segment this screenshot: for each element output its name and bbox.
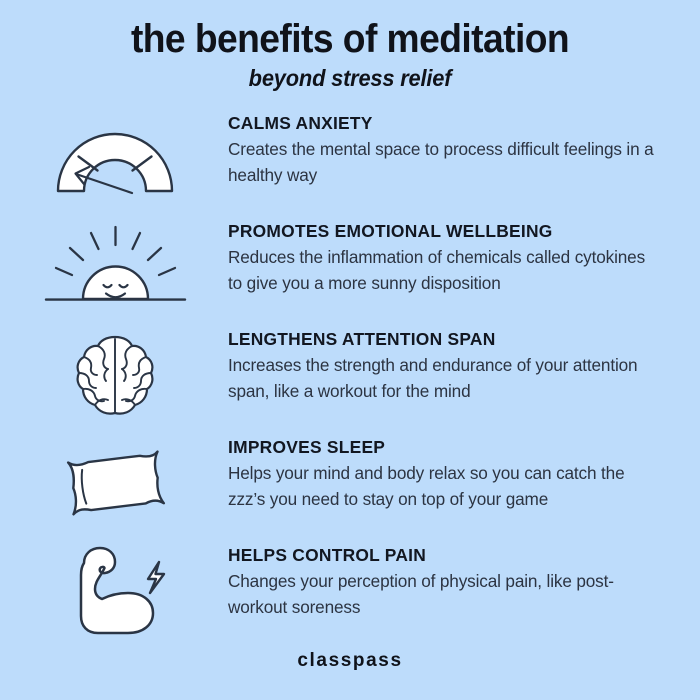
infographic-poster: the benefits of meditation beyond stress… — [0, 0, 700, 700]
benefits-list: CALMS ANXIETY Creates the mental space t… — [0, 105, 700, 645]
list-item: PROMOTES EMOTIONAL WELLBEING Reduces the… — [0, 213, 700, 321]
pillow-icon — [40, 429, 190, 537]
classpass-logo: classpass — [297, 650, 402, 671]
flexed-bicep-icon — [40, 537, 190, 645]
list-item: IMPROVES SLEEP Helps your mind and body … — [0, 429, 700, 537]
benefit-title: LENGTHENS ATTENTION SPAN — [228, 328, 678, 350]
benefit-title: CALMS ANXIETY — [228, 112, 678, 134]
rising-sun-face-icon — [40, 213, 190, 321]
gauge-icon — [40, 105, 190, 213]
benefit-description: Helps your mind and body relax so you ca… — [228, 461, 658, 512]
page-title: the benefits of meditation — [25, 16, 676, 62]
header: the benefits of meditation beyond stress… — [0, 16, 700, 92]
benefit-text: CALMS ANXIETY Creates the mental space t… — [228, 112, 678, 188]
benefit-text: IMPROVES SLEEP Helps your mind and body … — [228, 436, 678, 512]
footer: classpass — [0, 650, 700, 672]
benefit-description: Increases the strength and endurance of … — [228, 353, 658, 404]
list-item: LENGTHENS ATTENTION SPAN Increases the s… — [0, 321, 700, 429]
list-item: CALMS ANXIETY Creates the mental space t… — [0, 105, 700, 213]
benefit-text: HELPS CONTROL PAIN Changes your percepti… — [228, 544, 678, 620]
benefit-description: Reduces the inflammation of chemicals ca… — [228, 245, 658, 296]
benefit-title: IMPROVES SLEEP — [228, 436, 678, 458]
benefit-text: PROMOTES EMOTIONAL WELLBEING Reduces the… — [228, 220, 678, 296]
benefit-title: PROMOTES EMOTIONAL WELLBEING — [228, 220, 678, 242]
benefit-description: Creates the mental space to process diff… — [228, 137, 658, 188]
benefit-description: Changes your perception of physical pain… — [228, 569, 658, 620]
list-item: HELPS CONTROL PAIN Changes your percepti… — [0, 537, 700, 645]
benefit-title: HELPS CONTROL PAIN — [228, 544, 678, 566]
brain-icon — [40, 321, 190, 429]
benefit-text: LENGTHENS ATTENTION SPAN Increases the s… — [228, 328, 678, 404]
page-subtitle: beyond stress relief — [18, 64, 683, 92]
